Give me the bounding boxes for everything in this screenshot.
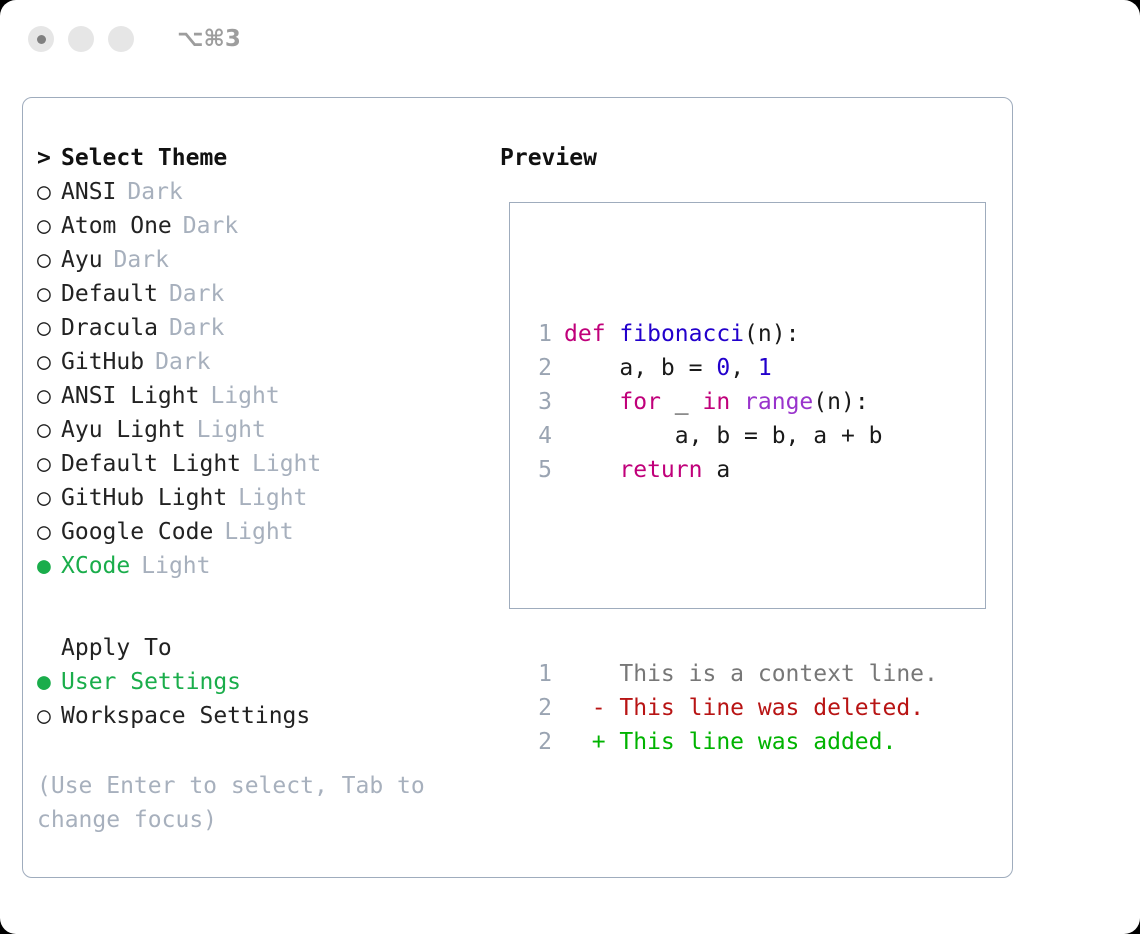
diff-line: 2 + This line was added. (526, 725, 938, 759)
apply-to-item[interactable]: ○Workspace Settings (37, 699, 487, 733)
code-token: a, b = b, a + b (564, 419, 883, 453)
code-token: , (730, 351, 758, 385)
theme-name: Dracula (61, 311, 158, 345)
caret-icon: > (37, 141, 61, 175)
code-line: 1def fibonacci(n): (526, 317, 938, 351)
keyboard-shortcut-label: ⌥⌘3 (177, 26, 241, 52)
diff-text: This is a context line. (619, 657, 938, 691)
theme-variant: Dark (183, 209, 238, 243)
theme-variant: Dark (169, 277, 224, 311)
theme-variant: Light (197, 413, 266, 447)
code-token: def (564, 317, 606, 351)
theme-list-item[interactable]: ○GitHubDark (37, 345, 487, 379)
apply-to-item[interactable]: ●User Settings (37, 665, 487, 699)
theme-name: Default Light (61, 447, 241, 481)
apply-to-list: ●User Settings○Workspace Settings (37, 665, 487, 733)
diff-line-number: 2 (526, 691, 552, 725)
select-theme-header: > Select Theme (37, 141, 487, 175)
theme-name: Default (61, 277, 158, 311)
code-line: 2 a, b = 0, 1 (526, 351, 938, 385)
code-line-number: 4 (526, 419, 552, 453)
section-spacer (37, 583, 487, 631)
theme-variant: Light (210, 379, 279, 413)
radio-unselected-icon[interactable]: ○ (37, 277, 61, 311)
theme-name: GitHub Light (61, 481, 227, 515)
theme-selector-column: > Select Theme ○ANSIDark○Atom OneDark○Ay… (37, 141, 487, 837)
theme-list-item[interactable]: ○DraculaDark (37, 311, 487, 345)
radio-unselected-icon[interactable]: ○ (37, 481, 61, 515)
code-token: return (619, 453, 702, 487)
diff-marker (564, 657, 619, 691)
theme-variant: Light (252, 447, 321, 481)
theme-variant: Dark (169, 311, 224, 345)
code-token: in (702, 385, 730, 419)
code-line: 5 return a (526, 453, 938, 487)
theme-name: Google Code (61, 515, 213, 549)
diff-line: 2 - This line was deleted. (526, 691, 938, 725)
title-bar: ⌥⌘3 (0, 0, 1140, 78)
apply-to-header: Apply To (37, 631, 487, 665)
code-token (564, 453, 619, 487)
code-line-number: 2 (526, 351, 552, 385)
code-line: 4 a, b = b, a + b (526, 419, 938, 453)
theme-list-item[interactable]: ○Default LightLight (37, 447, 487, 481)
code-token: 1 (758, 351, 772, 385)
code-token: 0 (716, 351, 730, 385)
traffic-light-second[interactable] (68, 26, 94, 52)
preview-code-content: 1def fibonacci(n):2 a, b = 0, 13 for _ i… (526, 249, 938, 827)
theme-list-item[interactable]: ○ANSI LightLight (37, 379, 487, 413)
traffic-light-active[interactable] (28, 26, 54, 52)
theme-variant: Light (224, 515, 293, 549)
theme-variant: Light (141, 549, 210, 583)
code-diff-spacer (526, 555, 938, 589)
code-token (606, 317, 620, 351)
theme-variant: Dark (155, 345, 210, 379)
diff-line: 1 This is a context line. (526, 657, 938, 691)
diff-sample: 1 This is a context line.2 - This line w… (526, 657, 938, 759)
code-token: fibonacci (619, 317, 744, 351)
code-token (730, 385, 744, 419)
radio-unselected-icon[interactable]: ○ (37, 515, 61, 549)
theme-name: Ayu (61, 243, 103, 277)
preview-title: Preview (500, 141, 597, 175)
radio-unselected-icon[interactable]: ○ (37, 413, 61, 447)
preview-column: Preview (500, 141, 597, 175)
theme-name: ANSI Light (61, 379, 199, 413)
code-line-number: 3 (526, 385, 552, 419)
code-line: 3 for _ in range(n): (526, 385, 938, 419)
theme-name: Ayu Light (61, 413, 186, 447)
theme-list-item[interactable]: ○GitHub LightLight (37, 481, 487, 515)
keyboard-hint: (Use Enter to select, Tab to change focu… (37, 769, 437, 837)
theme-list-item[interactable]: ○Ayu LightLight (37, 413, 487, 447)
code-sample: 1def fibonacci(n):2 a, b = 0, 13 for _ i… (526, 317, 938, 487)
code-token: range (744, 385, 813, 419)
radio-selected-icon[interactable]: ● (37, 549, 61, 583)
radio-unselected-icon[interactable]: ○ (37, 175, 61, 209)
traffic-light-third[interactable] (108, 26, 134, 52)
code-token: _ (661, 385, 703, 419)
theme-list: ○ANSIDark○Atom OneDark○AyuDark○DefaultDa… (37, 175, 487, 583)
radio-unselected-icon[interactable]: ○ (37, 447, 61, 481)
code-token (564, 385, 619, 419)
theme-list-item[interactable]: ○AyuDark (37, 243, 487, 277)
radio-unselected-icon[interactable]: ○ (37, 311, 61, 345)
theme-variant: Light (238, 481, 307, 515)
code-line-number: 5 (526, 453, 552, 487)
code-token: a (702, 453, 730, 487)
theme-list-item[interactable]: ○ANSIDark (37, 175, 487, 209)
diff-marker: + (564, 725, 619, 759)
app-window: ⌥⌘3 > Select Theme ○ANSIDark○Atom OneDar… (0, 0, 1140, 934)
apply-to-label: Workspace Settings (61, 699, 310, 733)
code-token: (n): (813, 385, 868, 419)
radio-unselected-icon[interactable]: ○ (37, 699, 61, 733)
theme-variant: Dark (127, 175, 182, 209)
code-line-number: 1 (526, 317, 552, 351)
diff-line-number: 1 (526, 657, 552, 691)
apply-to-header-label: Apply To (61, 631, 172, 665)
theme-variant: Dark (114, 243, 169, 277)
theme-list-item[interactable]: ○DefaultDark (37, 277, 487, 311)
code-token: (n): (744, 317, 799, 351)
traffic-light-active-dot (37, 35, 46, 44)
theme-name: XCode (61, 549, 130, 583)
diff-text: This line was added. (619, 725, 896, 759)
apply-to-label: User Settings (61, 665, 241, 699)
theme-name: ANSI (61, 175, 116, 209)
theme-list-item[interactable]: ○Atom OneDark (37, 209, 487, 243)
diff-text: This line was deleted. (619, 691, 924, 725)
theme-list-item[interactable]: ○Google CodeLight (37, 515, 487, 549)
diff-line-number: 2 (526, 725, 552, 759)
main-panel: > Select Theme ○ANSIDark○Atom OneDark○Ay… (22, 97, 1013, 878)
theme-name: Atom One (61, 209, 172, 243)
diff-marker: - (564, 691, 619, 725)
radio-unselected-icon[interactable]: ○ (37, 209, 61, 243)
preview-code-box: 1def fibonacci(n):2 a, b = 0, 13 for _ i… (509, 202, 986, 609)
theme-name: GitHub (61, 345, 144, 379)
radio-selected-icon[interactable]: ● (37, 665, 61, 699)
code-token: for (619, 385, 661, 419)
theme-list-item[interactable]: ●XCodeLight (37, 549, 487, 583)
code-token: a, b = (564, 351, 716, 385)
radio-unselected-icon[interactable]: ○ (37, 243, 61, 277)
radio-unselected-icon[interactable]: ○ (37, 379, 61, 413)
radio-unselected-icon[interactable]: ○ (37, 345, 61, 379)
select-theme-header-label: Select Theme (61, 141, 227, 175)
